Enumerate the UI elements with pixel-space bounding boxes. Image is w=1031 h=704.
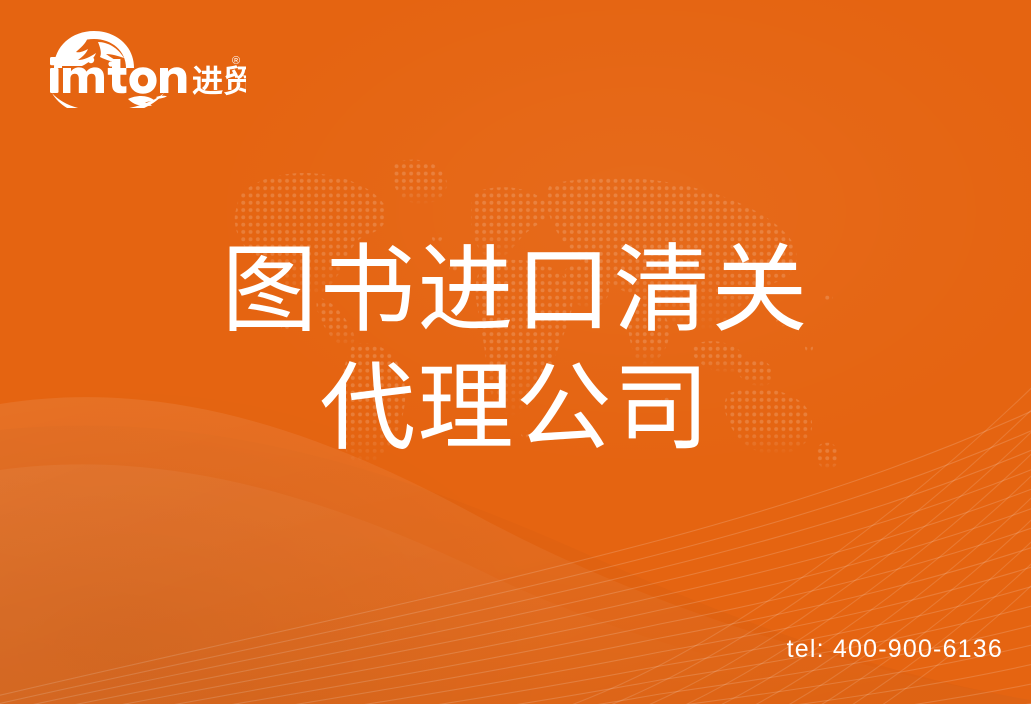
globe-icon — [54, 31, 134, 68]
logo-wordmark-cn: 进贸通 — [192, 64, 246, 100]
logo-artwork: 进贸通 ® — [36, 26, 246, 108]
poster-canvas: 进贸通 ® 图书进口清关 代理公司 tel: 400-900-6136 — [0, 0, 1031, 704]
headline-line-1: 图书进口清关 — [0, 232, 1031, 350]
brand-logo[interactable]: 进贸通 ® — [36, 26, 246, 108]
registered-mark-icon: ® — [232, 55, 240, 67]
headline-line-2: 代理公司 — [0, 350, 1031, 468]
swoosh-arrow-icon — [52, 93, 167, 108]
page-title: 图书进口清关 代理公司 — [0, 232, 1031, 468]
contact-phone: tel: 400-900-6136 — [787, 634, 1003, 664]
